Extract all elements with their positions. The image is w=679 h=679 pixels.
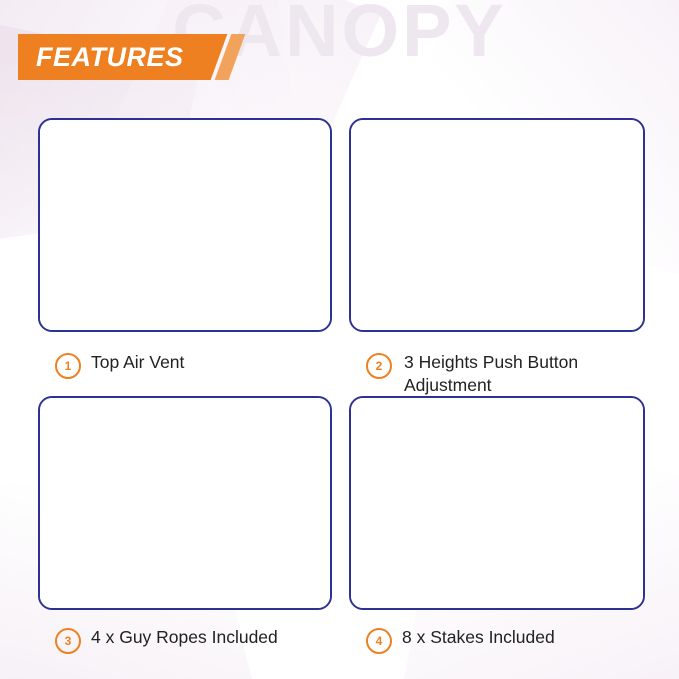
feature-panel-3 bbox=[38, 396, 332, 610]
feature-panel-4 bbox=[349, 396, 645, 610]
feature-caption-3: 3 4 x Guy Ropes Included bbox=[55, 625, 330, 654]
feature-caption-1: 1 Top Air Vent bbox=[55, 350, 330, 379]
panel-4-background bbox=[351, 398, 643, 608]
feature-badge-4: 4 bbox=[366, 628, 392, 654]
panel-3-background bbox=[40, 398, 330, 608]
feature-label-4: 8 x Stakes Included bbox=[402, 625, 555, 649]
feature-caption-2: 2 3 Heights Push Button Adjustment bbox=[366, 350, 641, 397]
feature-label-1: Top Air Vent bbox=[91, 350, 184, 374]
feature-panel-1 bbox=[38, 118, 332, 332]
feature-badge-1: 1 bbox=[55, 353, 81, 379]
feature-panel-2 bbox=[349, 118, 645, 332]
feature-label-2: 3 Heights Push Button Adjustment bbox=[404, 350, 578, 397]
feature-badge-2: 2 bbox=[366, 353, 392, 379]
panel-1-background bbox=[40, 120, 330, 330]
features-header: FEATURES bbox=[18, 34, 237, 80]
header-band: FEATURES bbox=[18, 34, 206, 80]
product-feature-infographic: CANOPY FEATURES bbox=[0, 0, 679, 679]
page-title: FEATURES bbox=[36, 42, 184, 73]
feature-badge-3: 3 bbox=[55, 628, 81, 654]
feature-label-2-line1: 3 Heights Push Button bbox=[404, 351, 578, 374]
feature-label-2-line2: Adjustment bbox=[404, 374, 578, 397]
panel-2-background bbox=[351, 120, 643, 330]
feature-caption-4: 4 8 x Stakes Included bbox=[366, 625, 641, 654]
feature-label-3: 4 x Guy Ropes Included bbox=[91, 625, 278, 649]
